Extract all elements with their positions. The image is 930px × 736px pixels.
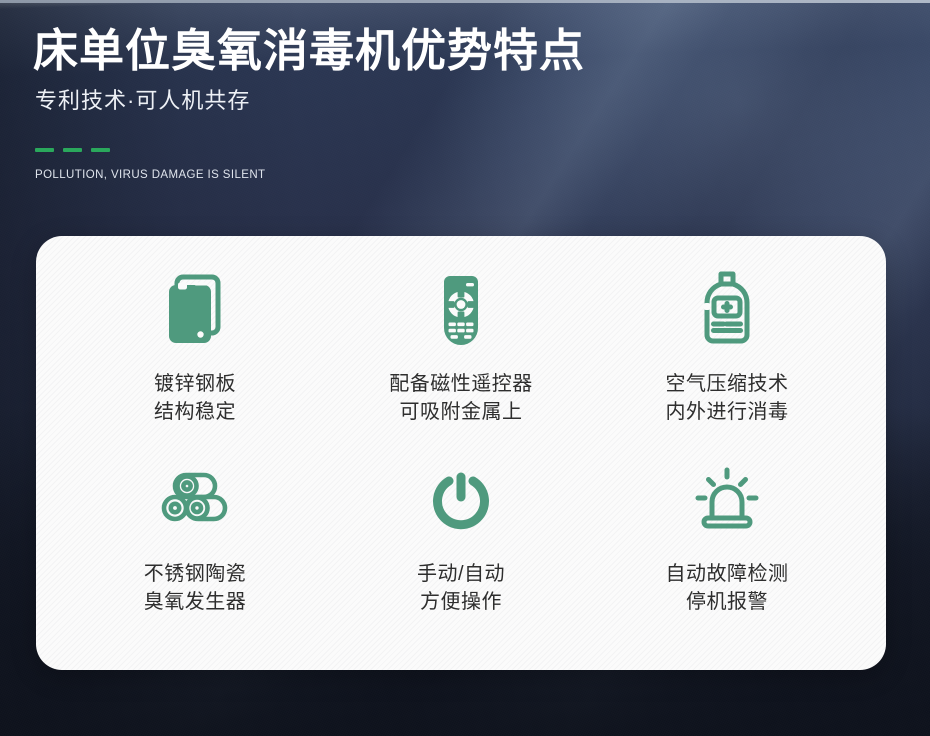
feature-item-ceramic-tubes: 不锈钢陶瓷 臭氧发生器	[62, 456, 328, 650]
accent-dash-2	[63, 148, 82, 152]
ceramic-tubes-icon	[155, 456, 235, 548]
alarm-siren-icon	[687, 456, 767, 548]
remote-control-icon	[422, 262, 500, 358]
accent-dash-1	[35, 148, 54, 152]
steel-plates-icon	[156, 262, 234, 358]
feature-label: 自动故障检测 停机报警	[666, 560, 789, 617]
accent-dash-3	[91, 148, 110, 152]
feature-item-disinfectant: 空气压缩技术 内外进行消毒	[594, 262, 860, 456]
feature-label: 手动/自动 方便操作	[417, 560, 505, 617]
header-block: 床单位臭氧消毒机优势特点 专利技术·可人机共存 POLLUTION, VIRUS…	[33, 26, 793, 181]
feature-label: 空气压缩技术 内外进行消毒	[666, 370, 789, 427]
disinfectant-bottle-icon	[688, 262, 766, 358]
power-button-icon	[423, 456, 499, 548]
page-subtitle: 专利技术·可人机共存	[35, 88, 793, 114]
top-edge-highlight	[0, 0, 930, 3]
eyebrow-text: POLLUTION, VIRUS DAMAGE IS SILENT	[35, 169, 793, 181]
feature-item-steel-plates: 镀锌钢板 结构稳定	[62, 262, 328, 456]
feature-item-alarm: 自动故障检测 停机报警	[594, 456, 860, 650]
feature-item-remote-control: 配备磁性遥控器 可吸附金属上	[328, 262, 594, 456]
features-card: 镀锌钢板 结构稳定	[36, 236, 886, 670]
feature-label: 不锈钢陶瓷 臭氧发生器	[144, 560, 247, 617]
page-title: 床单位臭氧消毒机优势特点	[33, 26, 793, 76]
feature-label: 镀锌钢板 结构稳定	[154, 370, 236, 427]
feature-item-power: 手动/自动 方便操作	[328, 456, 594, 650]
feature-label: 配备磁性遥控器 可吸附金属上	[389, 370, 533, 427]
accent-dash-row	[35, 148, 793, 152]
features-grid: 镀锌钢板 结构稳定	[36, 236, 886, 670]
promo-page: 床单位臭氧消毒机优势特点 专利技术·可人机共存 POLLUTION, VIRUS…	[0, 0, 930, 736]
